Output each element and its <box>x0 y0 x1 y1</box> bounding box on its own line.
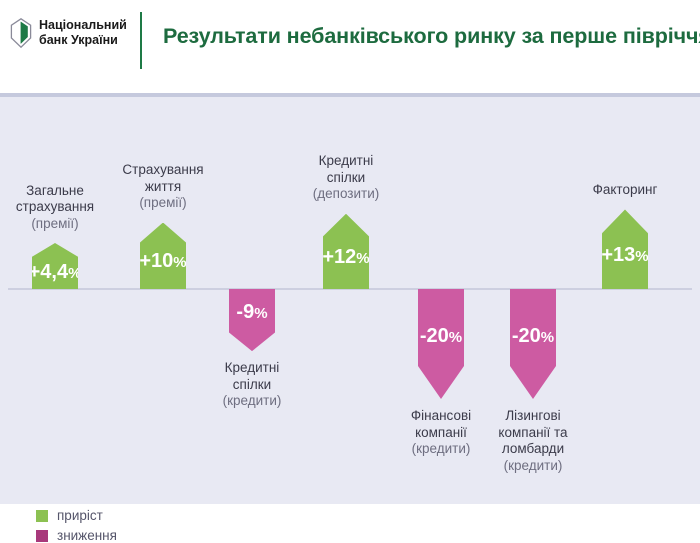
bar-value-label: +10% <box>139 250 186 273</box>
infographic-page: Національний банк України Результати неб… <box>0 0 700 504</box>
bar-category-label: Загальнестрахування(премії) <box>0 183 135 233</box>
bar-arrow-up[interactable]: +10% <box>140 223 186 290</box>
green-square-icon <box>36 510 48 522</box>
bar-group: -9%Кредитніспілки(кредити) <box>172 97 332 504</box>
nbu-shield-icon <box>10 18 32 48</box>
page-title: Результати небанківського ринку за перше… <box>163 24 700 49</box>
bar-value-percent-sign: % <box>635 248 648 265</box>
bar-value-percent-sign: % <box>449 329 462 346</box>
bar-label-line: спілки <box>172 377 332 394</box>
nbu-logo: Національний банк України <box>10 18 127 48</box>
bar-value-label: -20% <box>420 325 462 348</box>
chart-area: приріст зниження +4,4%Загальнестрахуванн… <box>0 97 700 504</box>
bar-label-line: ломбарди <box>453 441 613 458</box>
magenta-square-icon <box>36 530 48 542</box>
bar-value-label: -20% <box>512 325 554 348</box>
bar-arrow-down[interactable]: -9% <box>229 289 275 351</box>
nbu-logo-text: Національний банк України <box>39 18 127 48</box>
header-bar: Національний банк України Результати неб… <box>0 0 700 93</box>
bar-label-line: спілки <box>266 170 426 187</box>
bar-category-label: Страхуванняжиття(премії) <box>83 162 243 212</box>
bar-label-line: життя <box>83 179 243 196</box>
bar-label-sublabel: (кредити) <box>361 441 521 458</box>
logo-line-2: банк України <box>39 33 127 48</box>
bar-value-percent-sign: % <box>254 305 267 322</box>
zero-baseline <box>8 288 692 290</box>
bar-group: +13%Факторинг <box>545 97 700 504</box>
bar-arrow-up[interactable]: +4,4% <box>32 243 78 289</box>
bar-category-label: Кредитніспілки(кредити) <box>172 360 332 410</box>
bar-label-line: Страхування <box>83 162 243 179</box>
bar-category-label: Лізинговікомпанії таломбарди(кредити) <box>453 408 613 474</box>
bar-label-sublabel: (премії) <box>83 195 243 212</box>
bar-value-label: +4,4% <box>29 261 82 284</box>
bar-label-line: Факторинг <box>545 182 700 199</box>
bar-label-line: страхування <box>0 199 135 216</box>
bar-group: -20%Фінансовікомпанії(кредити) <box>361 97 521 504</box>
bar-label-line: компанії <box>361 425 521 442</box>
bar-label-line: Лізингові <box>453 408 613 425</box>
bar-arrow-down[interactable]: -20% <box>418 289 464 399</box>
bar-group: +12%Кредитніспілки(депозити) <box>266 97 426 504</box>
bar-label-line: Кредитні <box>266 153 426 170</box>
legend-item-decline: зниження <box>36 528 117 543</box>
bar-label-line: Загальне <box>0 183 135 200</box>
bar-value-percent-sign: % <box>356 250 369 267</box>
bar-arrow-up[interactable]: +13% <box>602 209 648 289</box>
legend-item-growth: приріст <box>36 508 117 523</box>
bar-label-sublabel: (кредити) <box>172 393 332 410</box>
bar-value-label: +13% <box>601 244 648 267</box>
bar-value-label: -9% <box>236 301 267 324</box>
bar-label-sublabel: (кредити) <box>453 458 613 475</box>
bar-value-label: +12% <box>322 246 369 269</box>
bar-value-percent-sign: % <box>68 265 81 282</box>
bar-arrow-down[interactable]: -20% <box>510 289 556 399</box>
header-divider-rule <box>140 12 142 69</box>
bar-label-line: Фінансові <box>361 408 521 425</box>
bar-category-label: Факторинг <box>545 182 700 199</box>
bar-arrow-up[interactable]: +12% <box>323 214 369 289</box>
bar-label-sublabel: (депозити) <box>266 186 426 203</box>
legend-label-growth: приріст <box>57 508 103 523</box>
bar-category-label: Кредитніспілки(депозити) <box>266 153 426 203</box>
bar-group: -20%Лізинговікомпанії таломбарди(кредити… <box>453 97 613 504</box>
bar-label-line: компанії та <box>453 425 613 442</box>
bar-label-sublabel: (премії) <box>0 216 135 233</box>
bar-group: +4,4%Загальнестрахування(премії) <box>0 97 135 504</box>
bar-value-percent-sign: % <box>173 254 186 271</box>
bar-value-percent-sign: % <box>541 329 554 346</box>
logo-line-1: Національний <box>39 18 127 33</box>
legend-label-decline: зниження <box>57 528 117 543</box>
chart-legend: приріст зниження <box>36 508 117 543</box>
bar-category-label: Фінансовікомпанії(кредити) <box>361 408 521 458</box>
bar-group: +10%Страхуванняжиття(премії) <box>83 97 243 504</box>
bar-label-line: Кредитні <box>172 360 332 377</box>
